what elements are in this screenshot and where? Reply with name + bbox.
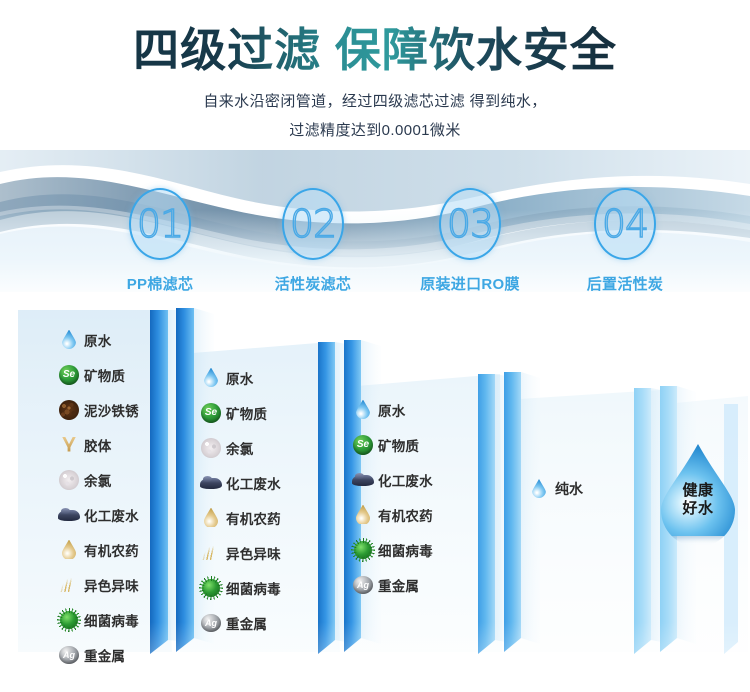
list-item: 余氯	[200, 430, 281, 465]
stage-4-circle: 04	[594, 188, 656, 260]
stage-2-circle: 02	[282, 188, 344, 260]
filtration-diagram: 原水 矿物质 泥沙铁锈 胶体 余氯 化工废水	[0, 292, 750, 692]
stage-2-label: 活性炭滤芯	[253, 273, 373, 294]
list-item-label: 异色异味	[226, 543, 281, 563]
stage-2[interactable]: 02 活性炭滤芯	[253, 188, 373, 294]
list-item-label: 细菌病毒	[378, 540, 433, 560]
list-item: 异色异味	[200, 535, 281, 570]
bacteria-virus-icon	[352, 539, 374, 561]
list-item-label: 重金属	[84, 645, 125, 665]
infographic-page: 四级过滤 保障饮水安全 自来水沿密闭管道，经过四级滤芯过滤 得到纯水， 过滤精度…	[0, 0, 750, 692]
healthy-water-drop: 健康 好水	[661, 444, 735, 536]
heavy-metal-icon	[58, 644, 80, 666]
list-item-label: 泥沙铁锈	[84, 400, 139, 420]
stage-4-label: 后置活性炭	[565, 273, 685, 294]
heavy-metal-icon	[200, 612, 222, 634]
subtitle-line2: 过滤精度达到0.0001微米	[0, 119, 750, 140]
residual-chlorine-icon	[58, 469, 80, 491]
after-stage2-column: 原水 矿物质 化工废水 有机农药 细菌病毒 重金属	[352, 392, 433, 602]
healthy-water-line2: 好水	[661, 500, 735, 518]
stage-2-number: 02	[290, 205, 336, 243]
list-item: 余氯	[58, 462, 139, 497]
list-item: 矿物质	[352, 427, 433, 462]
list-item-label: 矿物质	[226, 403, 267, 423]
list-item: 细菌病毒	[200, 570, 281, 605]
list-item: 重金属	[200, 605, 281, 640]
selenium-mineral-icon	[200, 402, 222, 424]
stage-3-label: 原装进口RO膜	[410, 273, 530, 294]
page-title: 四级过滤 保障饮水安全	[0, 26, 750, 76]
list-item: 化工废水	[200, 465, 281, 500]
stage-1[interactable]: 01 PP棉滤芯	[100, 188, 220, 294]
colloid-icon	[58, 434, 80, 456]
list-item-label: 细菌病毒	[84, 610, 139, 630]
residual-chlorine-icon	[200, 437, 222, 459]
list-item-label: 化工废水	[378, 470, 433, 490]
raw-water-column: 原水 矿物质 泥沙铁锈 胶体 余氯 化工废水	[58, 322, 139, 672]
list-item-label: 矿物质	[378, 435, 419, 455]
healthy-water-line1: 健康	[661, 482, 735, 500]
list-item: 矿物质	[200, 395, 281, 430]
list-item: 化工废水	[58, 497, 139, 532]
list-item-label: 原水	[226, 368, 253, 388]
list-item-label: 胶体	[84, 435, 111, 455]
odor-color-icon	[200, 542, 222, 564]
stage-3-circle: 03	[439, 188, 501, 260]
stage-1-number: 01	[137, 205, 183, 243]
sediment-rust-icon	[58, 399, 80, 421]
heavy-metal-icon	[352, 574, 374, 596]
list-item: 胶体	[58, 427, 139, 462]
pure-water-label: 纯水	[555, 479, 583, 499]
list-item-label: 化工废水	[84, 505, 139, 525]
list-item-label: 有机农药	[84, 540, 139, 560]
list-item: 原水	[200, 360, 281, 395]
subtitle-line1: 自来水沿密闭管道，经过四级滤芯过滤 得到纯水，	[0, 90, 750, 111]
list-item: 细菌病毒	[58, 602, 139, 637]
header: 四级过滤 保障饮水安全 自来水沿密闭管道，经过四级滤芯过滤 得到纯水， 过滤精度…	[0, 0, 750, 152]
water-drop-icon	[352, 399, 374, 421]
list-item-label: 异色异味	[84, 575, 139, 595]
list-item: 有机农药	[352, 497, 433, 532]
healthy-water-text: 健康 好水	[661, 482, 735, 517]
list-item-label: 矿物质	[84, 365, 125, 385]
pure-water-result: 纯水	[528, 478, 583, 500]
stage-1-circle: 01	[129, 188, 191, 260]
stage-3-number: 03	[447, 205, 493, 243]
water-drop-icon	[58, 329, 80, 351]
after-stage1-column: 原水 矿物质 余氯 化工废水 有机农药 异色异味	[200, 360, 281, 640]
chemical-waste-icon	[58, 504, 80, 526]
chemical-waste-icon	[200, 472, 222, 494]
water-drop-icon	[528, 478, 550, 500]
list-item: 重金属	[58, 637, 139, 672]
selenium-mineral-icon	[352, 434, 374, 456]
list-item-label: 余氯	[226, 438, 253, 458]
list-item-label: 化工废水	[226, 473, 281, 493]
bacteria-virus-icon	[58, 609, 80, 631]
list-item: 有机农药	[58, 532, 139, 567]
list-item: 细菌病毒	[352, 532, 433, 567]
stage-4[interactable]: 04 后置活性炭	[565, 188, 685, 294]
list-item-label: 重金属	[378, 575, 419, 595]
list-item: 有机农药	[200, 500, 281, 535]
list-item: 泥沙铁锈	[58, 392, 139, 427]
list-item: 化工废水	[352, 462, 433, 497]
list-item-label: 细菌病毒	[226, 578, 281, 598]
organic-pesticide-icon	[352, 504, 374, 526]
list-item-label: 有机农药	[378, 505, 433, 525]
list-item-label: 原水	[378, 400, 405, 420]
list-item: 原水	[58, 322, 139, 357]
list-item-label: 重金属	[226, 613, 267, 633]
chemical-waste-icon	[352, 469, 374, 491]
selenium-mineral-icon	[58, 364, 80, 386]
stage-1-label: PP棉滤芯	[100, 273, 220, 294]
list-item: 原水	[352, 392, 433, 427]
water-drop-icon	[200, 367, 222, 389]
odor-color-icon	[58, 574, 80, 596]
list-item-label: 有机农药	[226, 508, 281, 528]
bacteria-virus-icon	[200, 577, 222, 599]
list-item-label: 余氯	[84, 470, 111, 490]
list-item-label: 原水	[84, 330, 111, 350]
organic-pesticide-icon	[200, 507, 222, 529]
stage-3[interactable]: 03 原装进口RO膜	[410, 188, 530, 294]
organic-pesticide-icon	[58, 539, 80, 561]
list-item: 异色异味	[58, 567, 139, 602]
list-item: 矿物质	[58, 357, 139, 392]
stage-4-number: 04	[602, 205, 648, 243]
list-item: 重金属	[352, 567, 433, 602]
